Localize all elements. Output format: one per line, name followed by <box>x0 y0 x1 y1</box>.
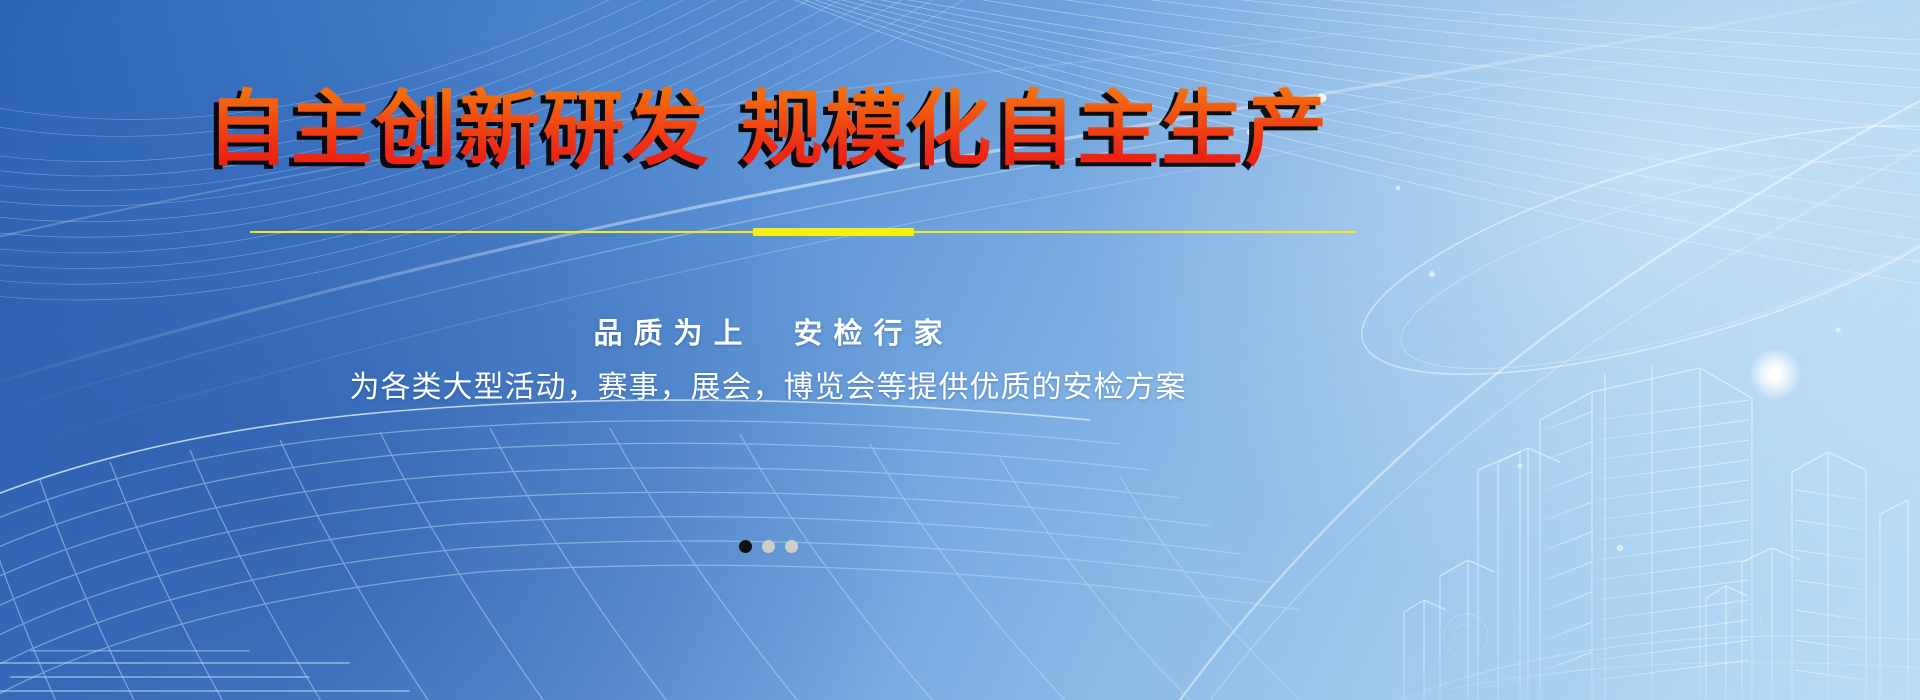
divider-thick-segment <box>753 228 913 236</box>
banner-tagline: 为各类大型活动，赛事，展会，博览会等提供优质的安检方案 <box>0 362 1536 406</box>
carousel-dot-2[interactable] <box>762 540 775 553</box>
hero-banner: 自主创新研发 规模化自主生产 品质为上 安检行家 为各类大型活动，赛事，展会，博… <box>0 0 1920 700</box>
banner-slogan: 品质为上 安检行家 <box>0 310 1536 352</box>
banner-headline: 自主创新研发 规模化自主生产 <box>0 78 1536 182</box>
carousel-dot-1[interactable] <box>739 540 752 553</box>
carousel-dot-3[interactable] <box>785 540 798 553</box>
divider <box>250 227 1356 237</box>
banner-content: 自主创新研发 规模化自主生产 品质为上 安检行家 为各类大型活动，赛事，展会，博… <box>0 0 1920 700</box>
carousel-dots[interactable] <box>0 540 1536 553</box>
